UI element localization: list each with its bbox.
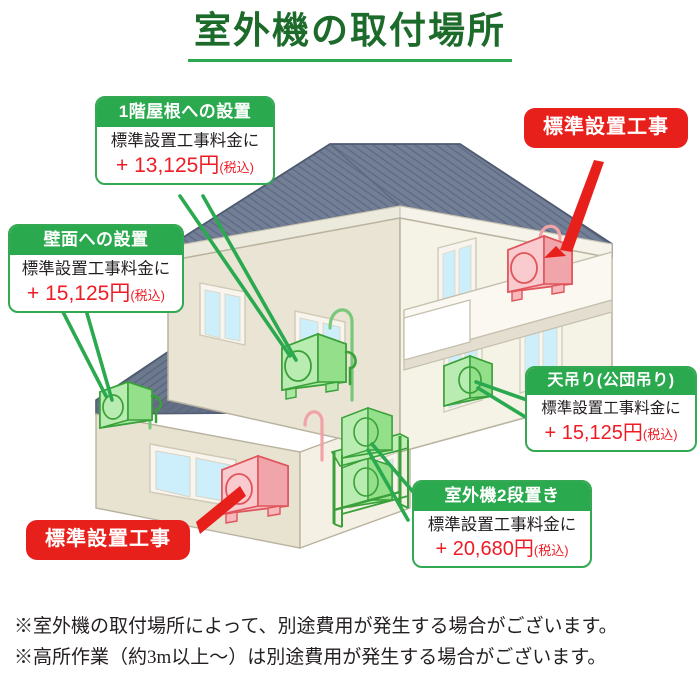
callout-roof-1f-body: 標準設置工事料金に + 13,125円(税込) (97, 127, 273, 184)
callout-two-tier-heading: 室外機2段置き (414, 482, 590, 511)
badge-standard-install-left[interactable]: 標準設置工事 (26, 520, 190, 560)
callout-two-tier-price: + 20,680円(税込) (420, 537, 584, 561)
callout-two-tier-body: 標準設置工事料金に + 20,680円(税込) (414, 511, 590, 567)
callout-ceiling-hang-line1: 標準設置工事料金に (533, 399, 689, 418)
callout-wall-price: + 15,125円(税込) (16, 281, 176, 306)
callout-wall-amount: + 15,125円 (27, 282, 130, 305)
callout-wall-line1: 標準設置工事料金に (16, 259, 176, 280)
callout-two-tier-amount: + 20,680円 (435, 538, 533, 560)
badge-standard-install-right[interactable]: 標準設置工事 (524, 108, 688, 148)
callout-wall[interactable]: 壁面への設置 標準設置工事料金に + 15,125円(税込) (8, 224, 184, 313)
callout-wall-tax: (税込) (130, 288, 165, 303)
window-2f-left-a (200, 283, 245, 345)
callout-ceiling-hang[interactable]: 天吊り(公団吊り) 標準設置工事料金に + 15,125円(税込) (525, 366, 697, 452)
callout-roof-1f-amount: + 13,125円 (116, 154, 219, 177)
callout-two-tier-tax: (税込) (534, 543, 569, 558)
illustration-stage: 室外機の取付場所 (0, 0, 700, 700)
callout-ceiling-hang-amount: + 15,125円 (544, 422, 642, 444)
callout-wall-body: 標準設置工事料金に + 15,125円(税込) (10, 255, 182, 312)
callout-roof-1f[interactable]: 1階屋根への設置 標準設置工事料金に + 13,125円(税込) (95, 96, 275, 185)
callout-ceiling-hang-tax: (税込) (643, 427, 678, 442)
callout-two-tier-line1: 標準設置工事料金に (420, 515, 584, 536)
callout-wall-heading: 壁面への設置 (10, 226, 182, 255)
footnote-1: ※室外機の取付場所によって、別途費用が発生する場合がございます。 (14, 612, 690, 643)
callout-roof-1f-price: + 13,125円(税込) (103, 153, 267, 178)
callout-two-tier[interactable]: 室外機2段置き 標準設置工事料金に + 20,680円(税込) (412, 480, 592, 568)
callout-roof-1f-tax: (税込) (219, 160, 254, 175)
footnotes: ※室外機の取付場所によって、別途費用が発生する場合がございます。 ※高所作業（約… (14, 612, 690, 674)
callout-ceiling-hang-price: + 15,125円(税込) (533, 421, 689, 445)
footnote-2: ※高所作業（約3m以上～）は別途費用が発生する場合がございます。 (14, 643, 690, 674)
callout-roof-1f-heading: 1階屋根への設置 (97, 98, 273, 127)
callout-ceiling-hang-body: 標準設置工事料金に + 15,125円(税込) (527, 395, 695, 449)
callout-ceiling-hang-heading: 天吊り(公団吊り) (527, 368, 695, 395)
callout-roof-1f-line1: 標準設置工事料金に (103, 131, 267, 152)
